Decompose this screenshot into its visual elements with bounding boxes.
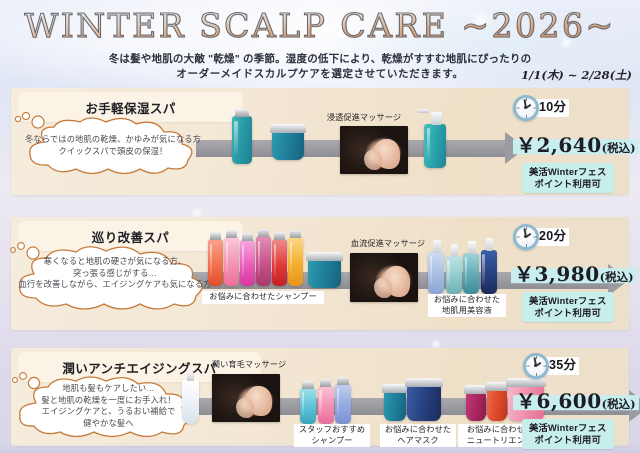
shampoo-bottle [240,240,255,286]
point-line-2: ポイント利用可 [529,307,607,319]
duration-label: 20分 [536,228,569,246]
nutrient-jar [466,391,486,421]
shampoo-bottle [288,237,303,286]
price-amount: ￥6,600 [516,389,602,413]
hand-shape [374,278,392,298]
product-scalp-serum-lineup [428,250,497,294]
price-value: ￥3,980(税込) [511,258,637,287]
massage-caption: 血流促進マッサージ [336,239,440,250]
subtitle-line-1: 冬は髪や地肌の大敵 "乾燥" の季節。湿度の低下により、乾燥がすすむ地肌にぴった… [0,52,640,67]
shampoo-bottle [318,386,334,424]
point-line-2: ポイント利用可 [529,178,607,190]
point-line-1: 美活Winterフェス [529,166,607,178]
caption-line-2: シャンプー [296,436,368,447]
point-usage-badge[interactable]: 美活Winterフェス ポイント利用可 [522,163,614,193]
title-container: WINTER SCALP CARE ~2026~ [0,6,640,45]
massage-caption: 潤い育毛マッサージ [196,360,302,371]
price-amount: ￥3,980 [514,262,600,286]
price-amount: ￥2,640 [516,133,602,157]
caption-line-2: ヘアマスク [382,436,454,447]
serum-caption: お悩みに合わせた 地肌用美容液 [428,294,506,317]
product-hair-mask-set [384,384,441,421]
customer-concern-bubble: 地肌も髪もケアしたい… 髪と地肌の乾燥を一度にお手入れ！ エイジングケアと、うる… [6,371,211,441]
product-lotion-bottle [232,116,252,164]
massage-photo [212,374,280,422]
hand-shape [236,398,254,418]
product-staff-shampoo-lineup [300,384,351,424]
point-line-1: 美活Winterフェス [529,422,607,434]
duration-label: 35分 [546,357,579,375]
tax-note: (税込) [602,397,636,411]
product-shampoo-lineup [208,236,303,286]
price-value: ￥2,640(税込) [513,129,639,158]
customer-concern-bubble: 寒くなると地肌の硬さが気になる方、 突っ張る感じがする… 血行を改善しながら、エ… [4,240,226,314]
serum-bottle [463,253,479,294]
shampoo-caption: お悩みに合わせたシャンプー [202,291,324,304]
product-tube [182,380,199,424]
serum-bottle [428,252,444,294]
shampoo-bottle [335,384,351,424]
shampoo-bottle [272,239,287,286]
tax-note: (税込) [600,270,634,284]
staff-shampoo-caption: スタッフおすすめ シャンプー [294,424,370,447]
duration-badge[interactable]: 20分 [513,224,569,250]
serum-caption-line-1: お悩みに合わせた [430,295,504,306]
campaign-date-range: 1/1(木) ~ 2/28(土) [521,67,632,83]
nutrient-jar [487,388,507,421]
shampoo-bottle [256,236,271,286]
product-jar [272,130,304,160]
shampoo-bottle [300,388,316,424]
point-usage-badge[interactable]: 美活Winterフェス ポイント利用可 [522,292,614,322]
shampoo-bottle [224,237,239,286]
caption-line-1: スタッフおすすめ [296,425,368,436]
point-line-1: 美活Winterフェス [529,295,607,307]
serum-bottle [481,250,497,294]
hair-mask-jar [384,390,406,421]
point-usage-badge[interactable]: 美活Winterフェス ポイント利用可 [522,419,614,449]
tax-note: (税込) [602,141,636,155]
point-line-2: ポイント利用可 [529,434,607,446]
serum-caption-line-2: 地肌用美容液 [430,306,504,317]
clock-icon [523,353,549,379]
duration-badge[interactable]: 35分 [523,353,579,379]
pump-nozzle [417,109,429,113]
clock-icon [513,224,539,250]
caption-line-1: お悩みに合わせた [382,425,454,436]
hand-shape [364,150,382,170]
serum-bottle [446,256,462,294]
clock-icon [513,95,539,121]
price-value: ￥6,600(税込) [513,385,639,414]
duration-label: 10分 [536,99,569,117]
massage-caption: 浸透促進マッサージ [312,113,416,124]
customer-concern-bubble: 冬ならではの地肌の乾燥、かゆみが気になる方 クイックスパで頭皮の保湿！ [8,112,218,178]
hair-mask-caption: お悩みに合わせた ヘアマスク [380,424,456,447]
massage-photo [350,253,418,302]
massage-photo [340,126,408,174]
page-title: WINTER SCALP CARE ~2026~ [24,6,615,45]
product-scalp-essence [424,124,446,168]
shampoo-bottle [208,239,223,286]
hair-mask-jar [407,384,441,421]
duration-badge[interactable]: 10分 [513,95,569,121]
product-jar [308,258,341,288]
